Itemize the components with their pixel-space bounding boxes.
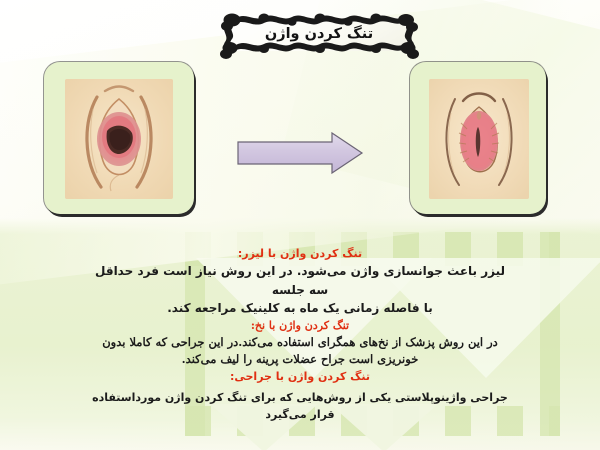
section-line-thread-1: در این روش پزشک از نخ‌های همگرای استفاده… — [85, 334, 515, 352]
before-illustration — [65, 79, 173, 199]
figure-card-after — [410, 62, 546, 214]
section-heading-thread: تنگ کردن واژن با نخ: — [30, 318, 570, 334]
content-body: تنگ کردن واژن با لیزر: لیزر باعث جوانساز… — [30, 246, 570, 423]
section-heading-laser: تنگ کردن واژن با لیزر: — [30, 246, 570, 262]
after-illustration — [429, 79, 529, 199]
ornate-frame-icon — [216, 8, 422, 60]
section-line-laser-2: با فاصله زمانی یک ماه به کلینیک مراجعه ک… — [85, 299, 515, 318]
section-heading-surgery: تنگ کردن واژن با جراحی: — [30, 369, 570, 385]
transformation-arrow — [236, 131, 364, 175]
figure-card-before — [44, 62, 194, 214]
slide-canvas: تنگ کردن واژن — [0, 0, 600, 450]
title-plaque: تنگ کردن واژن — [216, 8, 422, 60]
section-line-laser-1: لیزر باعث جوانسازی واژن می‌شود. در این ر… — [85, 262, 515, 299]
section-line-thread-2: خونریزی است جراح عضلات پرینه را لیف می‌ک… — [85, 351, 515, 369]
section-line-surgery-1: جراحی واژینوپلاستی یکی از روش‌هایی که بر… — [85, 389, 515, 423]
